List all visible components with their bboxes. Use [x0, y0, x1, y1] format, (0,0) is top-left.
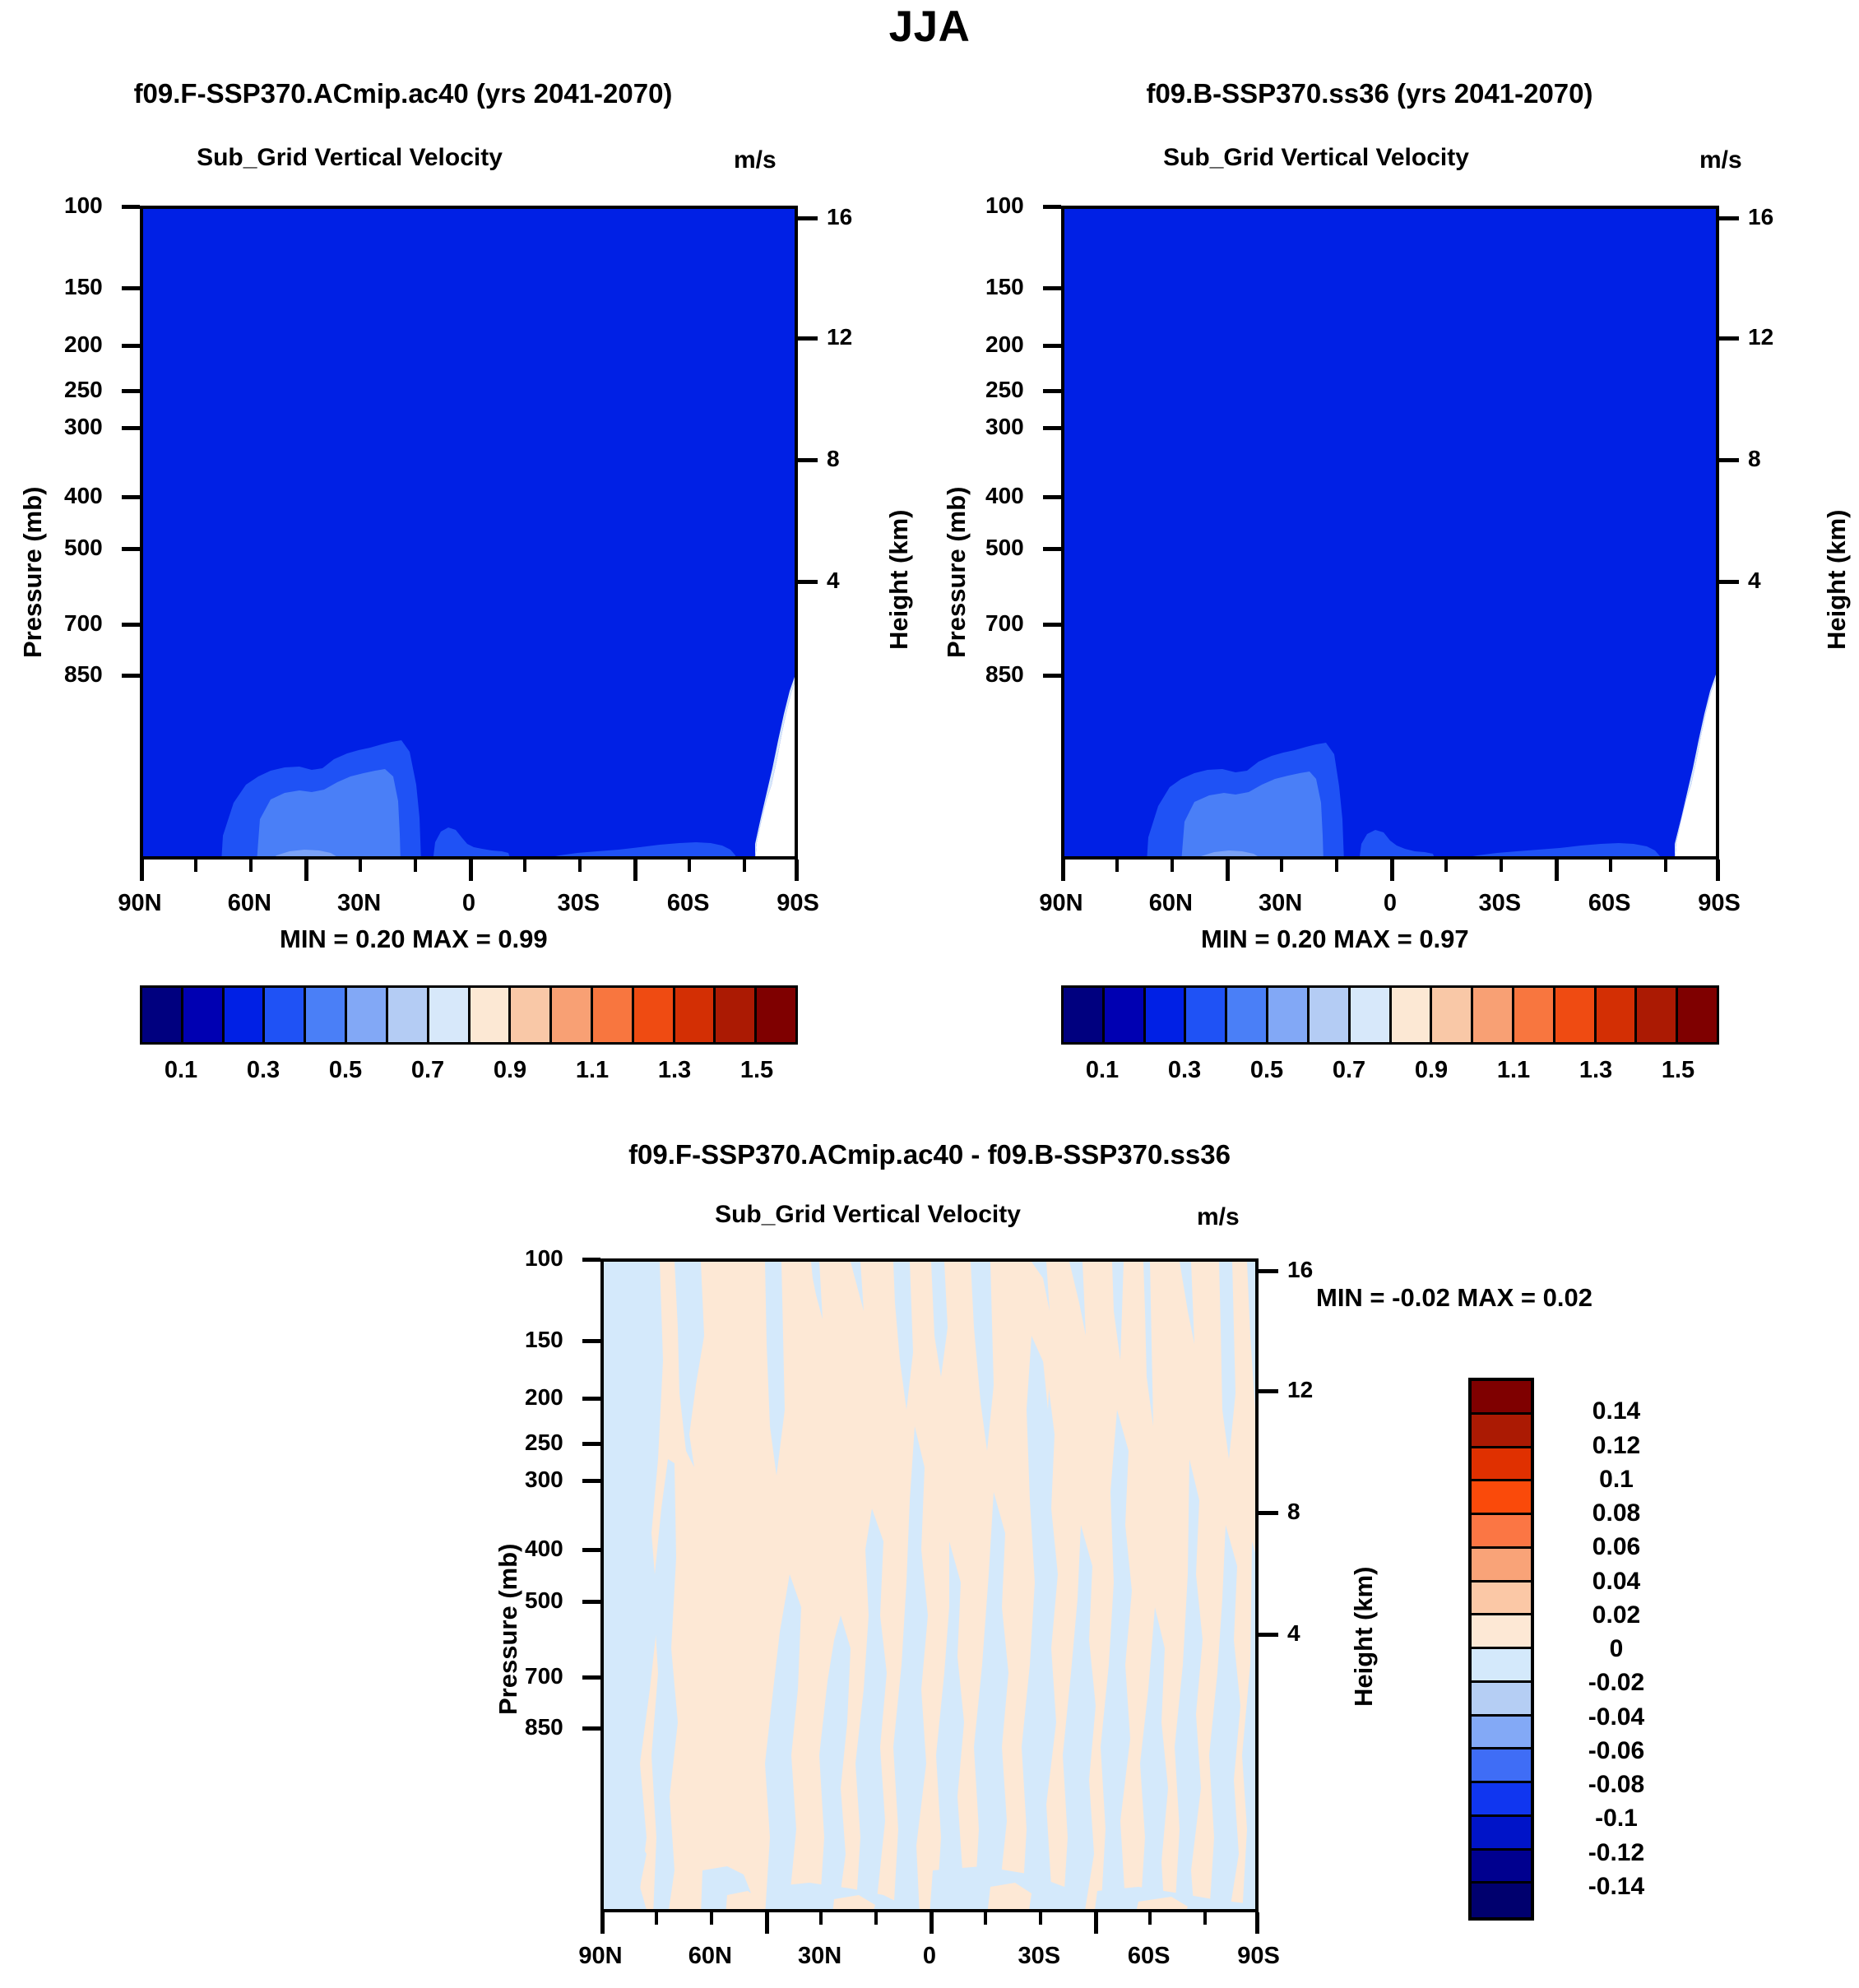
- colorbar-cell[interactable]: [1472, 1783, 1531, 1817]
- panel-a-ylabel-right: Height (km): [884, 510, 914, 651]
- colorbar-cell[interactable]: [1472, 1683, 1531, 1717]
- xaxis-tick-label: 60N: [228, 890, 271, 917]
- panel-b-minmax: MIN = 0.20 MAX = 0.97: [1201, 924, 1469, 954]
- colorbar-cell[interactable]: [1472, 1884, 1531, 1917]
- colorbar-tick-label: -0.14: [1555, 1873, 1678, 1901]
- colorbar-cell[interactable]: [1472, 1851, 1531, 1884]
- panel-a-contour-field: [143, 209, 798, 860]
- colorbar-cell[interactable]: [552, 988, 593, 1042]
- panel-b-xtick-labels: 90N60N30N030S60S90S: [1061, 890, 1719, 923]
- xaxis-tick-label: 90S: [777, 890, 819, 917]
- colorbar-tick-label: 0.08: [1555, 1499, 1678, 1527]
- colorbar-tick-label: 0.12: [1555, 1432, 1678, 1460]
- colorbar-cell[interactable]: [1432, 988, 1473, 1042]
- colorbar-cell[interactable]: [471, 988, 512, 1042]
- xaxis-tick-label: 30N: [1259, 890, 1302, 917]
- panel-b-title: f09.B-SSP370.ss36 (yrs 2041-2070): [975, 78, 1764, 109]
- colorbar-tick-label: 1.3: [658, 1057, 691, 1084]
- colorbar-tick-label: -0.12: [1555, 1839, 1678, 1867]
- xaxis-tick-label: 30S: [1479, 890, 1522, 917]
- panel-b-colorbar-labels: 0.10.30.50.70.91.11.31.5: [1061, 1057, 1719, 1090]
- panel-b-colorbar[interactable]: [1061, 985, 1719, 1045]
- colorbar-cell[interactable]: [1637, 988, 1678, 1042]
- colorbar-cell[interactable]: [1472, 1381, 1531, 1415]
- colorbar-cell[interactable]: [1597, 988, 1638, 1042]
- xaxis-tick-label: 0: [1384, 890, 1397, 917]
- panel-a-ylabel-left: Pressure (mb): [18, 487, 48, 658]
- panel-a-minmax: MIN = 0.20 MAX = 0.99: [280, 924, 548, 954]
- colorbar-cell[interactable]: [1105, 988, 1146, 1042]
- colorbar-cell[interactable]: [1555, 988, 1597, 1042]
- xaxis-tick-label: 90S: [1698, 890, 1741, 917]
- page-title: JJA: [0, 2, 1859, 52]
- panel-b-plot-area[interactable]: [1061, 206, 1719, 860]
- panel-b-ylabel-left: Pressure (mb): [942, 487, 971, 658]
- colorbar-tick-label: 0.5: [329, 1057, 362, 1084]
- colorbar-cell[interactable]: [1472, 1749, 1531, 1783]
- xaxis-tick-label: 0: [923, 1943, 936, 1970]
- xaxis-tick-label: 60S: [667, 890, 710, 917]
- panel-b-units-label: m/s: [1699, 146, 1742, 174]
- panel-diff-contour-field: [604, 1262, 1259, 1912]
- xaxis-tick-label: 60N: [688, 1943, 732, 1970]
- colorbar-cell[interactable]: [1473, 988, 1514, 1042]
- colorbar-cell[interactable]: [1678, 988, 1717, 1042]
- colorbar-tick-label: 0.9: [1415, 1057, 1448, 1084]
- colorbar-tick-label: 0.5: [1250, 1057, 1283, 1084]
- panel-b-variable-label: Sub_Grid Vertical Velocity: [991, 144, 1641, 172]
- panel-diff-xtick-labels: 90N60N30N030S60S90S: [600, 1943, 1259, 1976]
- colorbar-cell[interactable]: [1268, 988, 1310, 1042]
- colorbar-cell[interactable]: [1064, 988, 1105, 1042]
- colorbar-cell[interactable]: [1472, 1583, 1531, 1616]
- colorbar-cell[interactable]: [1472, 1481, 1531, 1515]
- colorbar-tick-label: -0.1: [1555, 1805, 1678, 1833]
- colorbar-cell[interactable]: [306, 988, 347, 1042]
- colorbar-cell[interactable]: [1186, 988, 1227, 1042]
- colorbar-cell[interactable]: [1392, 988, 1433, 1042]
- panel-diff-ylabel-left: Pressure (mb): [494, 1544, 523, 1715]
- colorbar-tick-label: 0.9: [494, 1057, 526, 1084]
- colorbar-tick-label: 1.5: [1662, 1057, 1694, 1084]
- colorbar-tick-label: -0.04: [1555, 1703, 1678, 1731]
- colorbar-cell[interactable]: [1310, 988, 1351, 1042]
- colorbar-cell[interactable]: [1146, 988, 1187, 1042]
- panel-a-plot-area[interactable]: [140, 206, 798, 860]
- panel-diff-colorbar-labels: 0.140.120.10.080.060.040.020-0.02-0.04-0…: [1555, 1378, 1719, 1921]
- colorbar-tick-label: 0: [1555, 1635, 1678, 1663]
- colorbar-tick-label: -0.06: [1555, 1737, 1678, 1765]
- panel-diff-plot-area[interactable]: [600, 1258, 1259, 1912]
- xaxis-tick-label: 90S: [1237, 1943, 1280, 1970]
- colorbar-tick-label: 0.7: [411, 1057, 444, 1084]
- colorbar-cell[interactable]: [1227, 988, 1268, 1042]
- panel-diff-title: f09.F-SSP370.ACmip.ac40 - f09.B-SSP370.s…: [354, 1139, 1505, 1170]
- colorbar-cell[interactable]: [675, 988, 716, 1042]
- xaxis-tick-label: 30S: [1018, 1943, 1061, 1970]
- panel-diff-minmax: MIN = -0.02 MAX = 0.02: [1316, 1283, 1592, 1313]
- colorbar-cell[interactable]: [1472, 1717, 1531, 1750]
- colorbar-cell[interactable]: [265, 988, 306, 1042]
- xaxis-tick-label: 90N: [118, 890, 161, 917]
- colorbar-cell[interactable]: [1351, 988, 1392, 1042]
- colorbar-tick-label: 0.02: [1555, 1601, 1678, 1629]
- colorbar-cell[interactable]: [1472, 1448, 1531, 1482]
- colorbar-tick-label: 1.3: [1579, 1057, 1612, 1084]
- panel-a-colorbar-labels: 0.10.30.50.70.91.11.31.5: [140, 1057, 798, 1090]
- colorbar-cell[interactable]: [1472, 1817, 1531, 1851]
- panel-a-units-label: m/s: [734, 146, 777, 174]
- panel-diff-colorbar[interactable]: [1468, 1378, 1534, 1921]
- colorbar-tick-label: 0.14: [1555, 1397, 1678, 1425]
- colorbar-cell[interactable]: [388, 988, 429, 1042]
- panel-b-ylabel-right: Height (km): [1822, 510, 1852, 651]
- colorbar-cell[interactable]: [1514, 988, 1555, 1042]
- xaxis-tick-label: 30S: [558, 890, 600, 917]
- colorbar-cell[interactable]: [1472, 1615, 1531, 1649]
- xaxis-tick-label: 0: [462, 890, 475, 917]
- colorbar-tick-label: 0.1: [1555, 1466, 1678, 1494]
- panel-a-colorbar[interactable]: [140, 985, 798, 1045]
- colorbar-tick-label: 1.1: [576, 1057, 609, 1084]
- colorbar-tick-label: 1.5: [740, 1057, 773, 1084]
- colorbar-cell[interactable]: [347, 988, 388, 1042]
- colorbar-cell[interactable]: [511, 988, 552, 1042]
- colorbar-cell[interactable]: [716, 988, 757, 1042]
- xaxis-tick-label: 90N: [578, 1943, 622, 1970]
- xaxis-tick-label: 60S: [1128, 1943, 1171, 1970]
- xaxis-tick-label: 30N: [337, 890, 381, 917]
- colorbar-cell[interactable]: [634, 988, 675, 1042]
- panel-diff-units-label: m/s: [1197, 1203, 1240, 1231]
- colorbar-cell[interactable]: [429, 988, 471, 1042]
- colorbar-tick-label: 0.1: [1086, 1057, 1119, 1084]
- colorbar-tick-label: 0.1: [165, 1057, 197, 1084]
- xaxis-tick-label: 90N: [1039, 890, 1082, 917]
- colorbar-cell[interactable]: [1472, 1549, 1531, 1583]
- colorbar-cell[interactable]: [757, 988, 795, 1042]
- colorbar-tick-label: 0.06: [1555, 1533, 1678, 1561]
- colorbar-tick-label: -0.08: [1555, 1771, 1678, 1799]
- colorbar-tick-label: 0.3: [247, 1057, 280, 1084]
- colorbar-cell[interactable]: [1472, 1649, 1531, 1683]
- panel-diff-ylabel-right: Height (km): [1349, 1567, 1379, 1708]
- colorbar-tick-label: -0.02: [1555, 1669, 1678, 1697]
- colorbar-cell[interactable]: [225, 988, 266, 1042]
- colorbar-cell[interactable]: [1472, 1415, 1531, 1448]
- panel-a-xtick-labels: 90N60N30N030S60S90S: [140, 890, 798, 923]
- panel-a-title: f09.F-SSP370.ACmip.ac40 (yrs 2041-2070): [8, 78, 798, 109]
- colorbar-cell[interactable]: [1472, 1515, 1531, 1549]
- colorbar-tick-label: 0.7: [1333, 1057, 1365, 1084]
- xaxis-tick-label: 30N: [798, 1943, 841, 1970]
- xaxis-tick-label: 60N: [1149, 890, 1193, 917]
- colorbar-cell[interactable]: [142, 988, 183, 1042]
- panel-diff-variable-label: Sub_Grid Vertical Velocity: [543, 1201, 1193, 1229]
- colorbar-tick-label: 0.3: [1168, 1057, 1201, 1084]
- colorbar-tick-label: 1.1: [1497, 1057, 1530, 1084]
- xaxis-tick-label: 60S: [1588, 890, 1631, 917]
- colorbar-cell[interactable]: [183, 988, 225, 1042]
- panel-a-variable-label: Sub_Grid Vertical Velocity: [25, 144, 675, 172]
- panel-b-contour-field: [1064, 209, 1719, 860]
- colorbar-tick-label: 0.04: [1555, 1568, 1678, 1596]
- colorbar-cell[interactable]: [593, 988, 634, 1042]
